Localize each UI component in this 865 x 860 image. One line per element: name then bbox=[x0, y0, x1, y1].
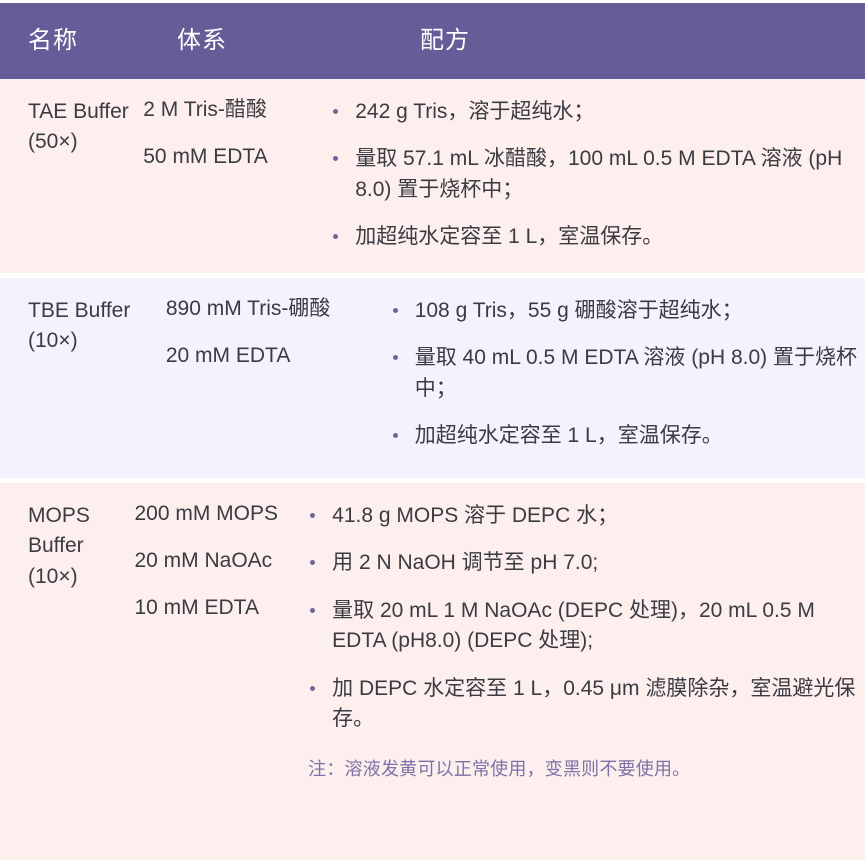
list-item: 加超纯水定容至 1 L，室温保存。 bbox=[331, 222, 861, 252]
buffer-name: TAE Buffer bbox=[28, 97, 143, 127]
system-line: 890 mM Tris-硼酸 bbox=[166, 296, 391, 321]
list-item-text: 量取 40 mL 0.5 M EDTA 溶液 (pH 8.0) 置于烧杯中； bbox=[415, 346, 857, 399]
formula-list: 242 g Tris，溶于超纯水； 量取 57.1 mL 冰醋酸，100 mL … bbox=[331, 97, 861, 253]
list-item: 量取 40 mL 0.5 M EDTA 溶液 (pH 8.0) 置于烧杯中； bbox=[391, 343, 861, 404]
bullet-icon bbox=[393, 355, 398, 360]
list-item: 242 g Tris，溶于超纯水； bbox=[331, 97, 861, 127]
system-line: 50 mM EDTA bbox=[143, 144, 331, 169]
system-line: 10 mM EDTA bbox=[134, 595, 308, 620]
system-line: 200 mM MOPS bbox=[134, 501, 308, 526]
list-item: 加 DEPC 水定容至 1 L，0.45 μm 滤膜除杂，室温避光保存。 bbox=[308, 674, 861, 735]
cell-system: 890 mM Tris-硼酸 20 mM EDTA bbox=[166, 296, 391, 470]
bullet-icon bbox=[333, 156, 338, 161]
list-item-text: 加超纯水定容至 1 L，室温保存。 bbox=[355, 225, 663, 248]
column-header-formula: 配方 bbox=[420, 29, 865, 53]
cell-name: MOPS Buffer (10×) bbox=[0, 501, 134, 852]
bullet-icon bbox=[310, 513, 315, 518]
list-item-text: 用 2 N NaOH 调节至 pH 7.0; bbox=[332, 551, 598, 574]
cell-name: TAE Buffer (50×) bbox=[0, 97, 143, 265]
list-item: 108 g Tris，55 g 硼酸溶于超纯水； bbox=[391, 296, 861, 326]
buffer-concentration: (10×) bbox=[28, 326, 166, 356]
list-item-text: 量取 57.1 mL 冰醋酸，100 mL 0.5 M EDTA 溶液 (pH … bbox=[355, 147, 842, 200]
table-body: TAE Buffer (50×) 2 M Tris-醋酸 50 mM EDTA … bbox=[0, 79, 865, 860]
buffer-concentration: (10×) bbox=[28, 562, 134, 592]
bullet-icon bbox=[333, 109, 338, 114]
system-line: 2 M Tris-醋酸 bbox=[143, 97, 331, 122]
buffer-concentration: (50×) bbox=[28, 127, 143, 157]
formula-list: 41.8 g MOPS 溶于 DEPC 水； 用 2 N NaOH 调节至 pH… bbox=[308, 501, 861, 735]
list-item: 量取 20 mL 1 M NaOAc (DEPC 处理)，20 mL 0.5 M… bbox=[308, 596, 861, 657]
bullet-icon bbox=[393, 308, 398, 313]
system-line: 20 mM EDTA bbox=[166, 343, 391, 368]
cell-formula: 41.8 g MOPS 溶于 DEPC 水； 用 2 N NaOH 调节至 pH… bbox=[308, 501, 865, 852]
cell-name: TBE Buffer (10×) bbox=[0, 296, 166, 470]
list-item: 用 2 N NaOH 调节至 pH 7.0; bbox=[308, 548, 861, 578]
column-header-name: 名称 bbox=[0, 29, 177, 53]
formula-list: 108 g Tris，55 g 硼酸溶于超纯水； 量取 40 mL 0.5 M … bbox=[391, 296, 861, 452]
cell-system: 2 M Tris-醋酸 50 mM EDTA bbox=[143, 97, 331, 265]
list-item-text: 108 g Tris，55 g 硼酸溶于超纯水； bbox=[415, 299, 743, 322]
buffer-recipe-table: 名称 体系 配方 TAE Buffer (50×) 2 M Tris-醋酸 50… bbox=[0, 0, 865, 860]
list-item: 41.8 g MOPS 溶于 DEPC 水； bbox=[308, 501, 861, 531]
list-item: 量取 57.1 mL 冰醋酸，100 mL 0.5 M EDTA 溶液 (pH … bbox=[331, 144, 861, 205]
list-item-text: 加超纯水定容至 1 L，室温保存。 bbox=[415, 424, 723, 447]
list-item-text: 41.8 g MOPS 溶于 DEPC 水； bbox=[332, 504, 618, 527]
table-row: TAE Buffer (50×) 2 M Tris-醋酸 50 mM EDTA … bbox=[0, 79, 865, 273]
column-header-system: 体系 bbox=[177, 29, 420, 53]
list-item-text: 加 DEPC 水定容至 1 L，0.45 μm 滤膜除杂，室温避光保存。 bbox=[332, 677, 855, 730]
table-row: TBE Buffer (10×) 890 mM Tris-硼酸 20 mM ED… bbox=[0, 273, 865, 478]
system-line: 20 mM NaOAc bbox=[134, 548, 308, 573]
list-item-text: 242 g Tris，溶于超纯水； bbox=[355, 100, 594, 123]
bullet-icon bbox=[310, 560, 315, 565]
formula-note: 注：溶液发黄可以正常使用，变黑则不要使用。 bbox=[308, 757, 861, 782]
bullet-icon bbox=[310, 608, 315, 613]
list-item: 加超纯水定容至 1 L，室温保存。 bbox=[391, 421, 861, 451]
cell-formula: 242 g Tris，溶于超纯水； 量取 57.1 mL 冰醋酸，100 mL … bbox=[331, 97, 865, 265]
table-header-row: 名称 体系 配方 bbox=[0, 3, 865, 79]
list-item-text: 量取 20 mL 1 M NaOAc (DEPC 处理)，20 mL 0.5 M… bbox=[332, 599, 815, 652]
bullet-icon bbox=[333, 234, 338, 239]
cell-formula: 108 g Tris，55 g 硼酸溶于超纯水； 量取 40 mL 0.5 M … bbox=[391, 296, 865, 470]
cell-system: 200 mM MOPS 20 mM NaOAc 10 mM EDTA bbox=[134, 501, 308, 852]
bullet-icon bbox=[393, 433, 398, 438]
buffer-name: MOPS Buffer bbox=[28, 501, 134, 562]
table-row: MOPS Buffer (10×) 200 mM MOPS 20 mM NaOA… bbox=[0, 478, 865, 860]
buffer-name: TBE Buffer bbox=[28, 296, 166, 326]
bullet-icon bbox=[310, 686, 315, 691]
